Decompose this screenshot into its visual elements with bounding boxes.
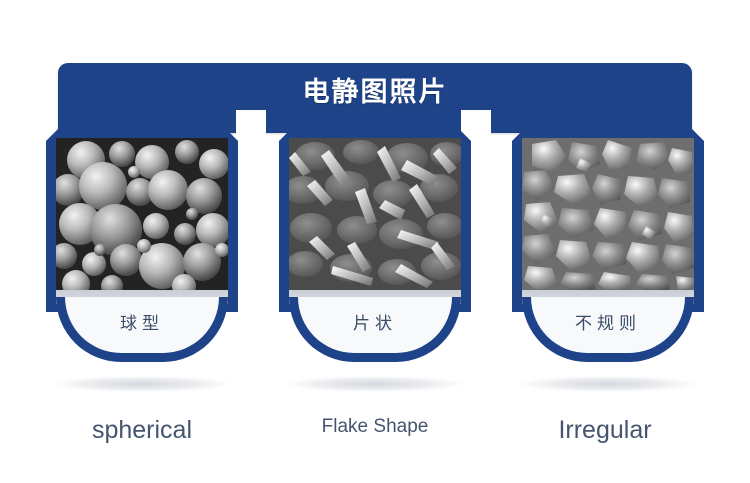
sem-irregular-powder-image: [522, 138, 694, 290]
card-flake[interactable]: 片状: [279, 127, 471, 362]
card-label-cn: 片状: [298, 297, 452, 345]
card-irregular[interactable]: 不规则: [512, 127, 704, 362]
card-label-cn: 不规则: [531, 297, 685, 345]
page-title: 电静图照片: [58, 63, 692, 115]
card-label-cn: 球型: [65, 297, 219, 345]
banner-notch-left: [236, 110, 266, 136]
caption-flake: Flake Shape: [260, 416, 490, 438]
card-label-bowl: 片状: [289, 297, 461, 362]
header-banner: 电静图照片: [58, 63, 692, 133]
card-shadow: [520, 376, 696, 392]
caption-irregular: Irregular: [490, 416, 720, 445]
card-label-surface: 片状: [298, 297, 452, 353]
card-label-bowl: 不规则: [522, 297, 694, 362]
card-shadow: [287, 376, 463, 392]
card-frame: [46, 127, 238, 312]
card-frame: [512, 127, 704, 312]
card-photo-well: [289, 138, 461, 304]
caption-spherical: spherical: [27, 416, 257, 445]
card-spherical[interactable]: 球型: [46, 127, 238, 362]
infographic-stage: 电静图照片: [0, 0, 750, 483]
card-frame: [279, 127, 471, 312]
card-label-bowl: 球型: [56, 297, 228, 362]
card-label-surface: 球型: [65, 297, 219, 353]
card-shadow: [54, 376, 230, 392]
card-photo-well: [522, 138, 694, 304]
sem-spherical-powder-image: [56, 138, 228, 290]
card-photo-well: [56, 138, 228, 304]
card-label-surface: 不规则: [531, 297, 685, 353]
sem-flake-powder-image: [289, 138, 461, 290]
